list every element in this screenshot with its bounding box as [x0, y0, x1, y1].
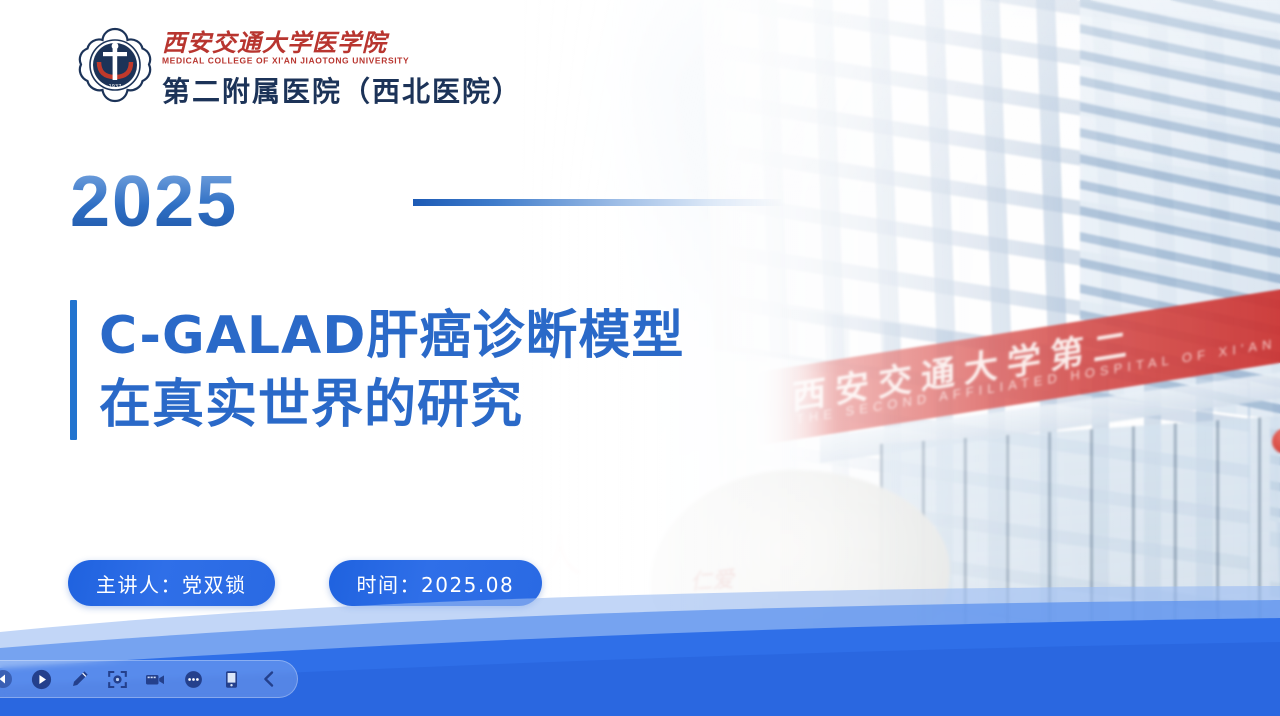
university-emblem-icon: 1937: [78, 26, 152, 104]
pencil-icon[interactable]: [67, 667, 91, 691]
logo-university-name: 西安交通大学医学院: [162, 30, 522, 55]
title-block: C-GALAD肝癌诊断模型 在真实世界的研究: [70, 300, 684, 440]
logo-text-block: 西安交通大学医学院 MEDICAL COLLEGE OF XI'AN JIAOT…: [162, 26, 522, 110]
back-circle-icon[interactable]: [0, 667, 15, 691]
chevron-left-icon[interactable]: [257, 667, 281, 691]
play-circle-icon[interactable]: [29, 667, 53, 691]
scan-focus-icon[interactable]: [105, 667, 129, 691]
logo-hospital-name: 第二附属医院（西北医院）: [162, 70, 522, 110]
floating-toolbar[interactable]: [0, 660, 298, 698]
title-accent-bar: [70, 300, 77, 440]
mobile-phone-icon[interactable]: [219, 667, 243, 691]
gradient-divider-rule: [413, 199, 785, 206]
logo-university-name-english: MEDICAL COLLEGE OF XI'AN JIAOTONG UNIVER…: [162, 56, 522, 65]
video-camera-icon[interactable]: [143, 667, 167, 691]
svg-text:1937: 1937: [109, 84, 122, 90]
title-line-2: 在真实世界的研究: [99, 371, 684, 440]
presentation-slide: 西安交通大学第二 THE SECOND AFFILIATED HOSPITAL …: [0, 0, 1280, 716]
title-line-1: C-GALAD肝癌诊断模型: [99, 302, 684, 371]
title-lines: C-GALAD肝癌诊断模型 在真实世界的研究: [99, 300, 684, 440]
hospital-logo: 1937 西安交通大学医学院 MEDICAL COLLEGE OF XI'AN …: [78, 26, 522, 110]
year-label: 2025: [70, 166, 238, 238]
more-dots-icon[interactable]: [181, 667, 205, 691]
